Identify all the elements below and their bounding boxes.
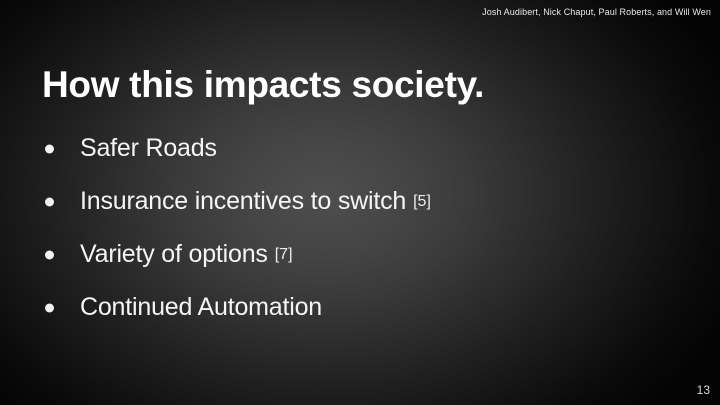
bullet-dot-icon	[45, 303, 54, 312]
list-item: Variety of options [7]	[42, 228, 682, 281]
page-number: 13	[697, 383, 710, 397]
bullet-dot-icon	[45, 250, 54, 259]
bullet-dot-icon	[45, 197, 54, 206]
presentation-slide: Josh Audibert, Nick Chaput, Paul Roberts…	[0, 0, 720, 405]
bullet-text: Continued Automation	[80, 293, 322, 322]
list-item: Continued Automation	[42, 281, 682, 334]
bullet-text: Safer Roads	[80, 134, 217, 163]
bullet-list: Safer Roads Insurance incentives to swit…	[42, 122, 682, 334]
list-item: Insurance incentives to switch [5]	[42, 175, 682, 228]
slide-title: How this impacts society.	[42, 65, 484, 105]
list-item: Safer Roads	[42, 122, 682, 175]
citation-reference: [5]	[413, 194, 431, 210]
citation-reference: [7]	[275, 247, 293, 263]
slide-attribution: Josh Audibert, Nick Chaput, Paul Roberts…	[482, 7, 711, 18]
bullet-text: Insurance incentives to switch	[80, 187, 406, 216]
bullet-dot-icon	[45, 144, 54, 153]
bullet-text: Variety of options	[80, 240, 268, 269]
